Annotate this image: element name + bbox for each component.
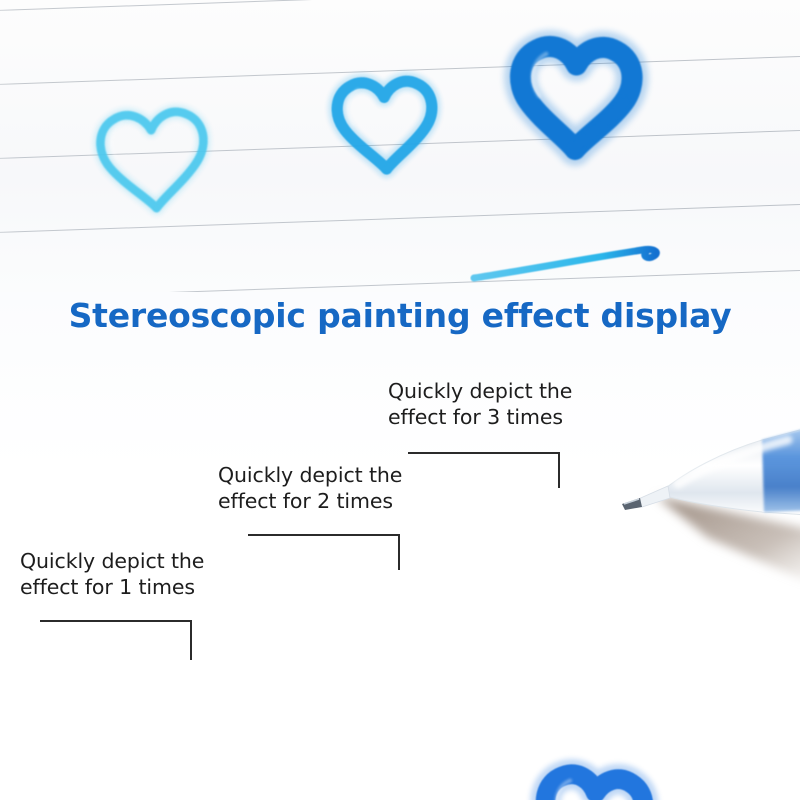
paper-rule-line bbox=[0, 268, 800, 292]
strong-blue-heart-3x bbox=[524, 754, 661, 800]
leader-vertical bbox=[558, 452, 560, 488]
product-image-canvas: Quickly depict the effect for 3 timesQui… bbox=[0, 0, 800, 800]
page-title: Stereoscopic painting effect display bbox=[0, 296, 800, 335]
annotation-3-leader-line bbox=[408, 452, 560, 488]
annotation-2-leader-line bbox=[248, 534, 400, 570]
paper-rule-line bbox=[0, 0, 800, 13]
leader-horizontal bbox=[40, 620, 192, 622]
annotation-3-label: Quickly depict the effect for 3 times bbox=[388, 378, 572, 430]
lined-paper-sample-panel bbox=[0, 0, 800, 292]
white-translucent-paint-pen bbox=[612, 412, 800, 602]
annotation-1-leader-line bbox=[40, 620, 192, 660]
leader-vertical bbox=[190, 620, 192, 660]
annotated-demo-panel: Quickly depict the effect for 3 timesQui… bbox=[0, 292, 800, 800]
tapered-brush-stroke bbox=[470, 244, 670, 288]
leader-horizontal bbox=[408, 452, 560, 454]
deep-blue-heart bbox=[504, 27, 648, 161]
leader-horizontal bbox=[248, 534, 400, 536]
leader-vertical bbox=[398, 534, 400, 570]
light-cyan-heart bbox=[84, 92, 222, 223]
mid-blue-heart bbox=[323, 64, 447, 180]
annotation-2-label: Quickly depict the effect for 2 times bbox=[218, 462, 402, 514]
annotation-1-label: Quickly depict the effect for 1 times bbox=[20, 548, 204, 600]
